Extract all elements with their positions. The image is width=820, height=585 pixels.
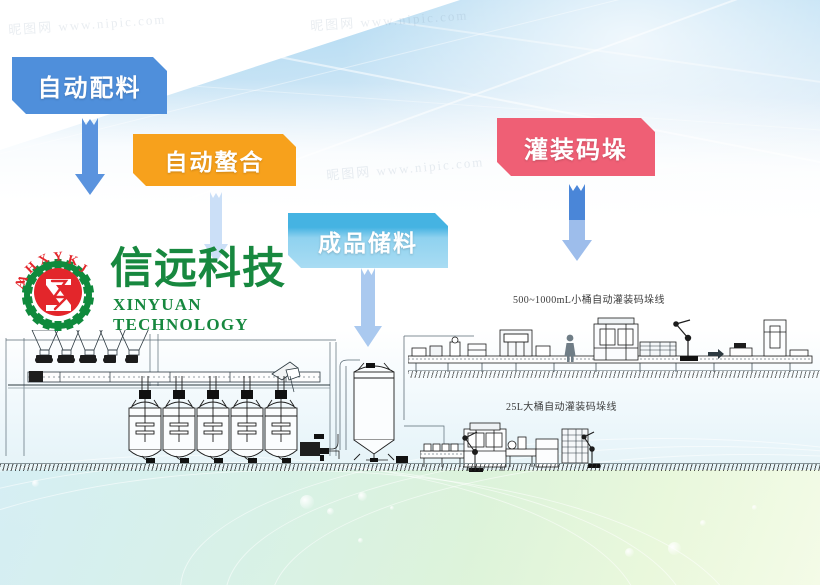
banner-filling-palletizing[interactable]: 灌装码垛 — [497, 118, 655, 176]
background-bokeh — [668, 542, 681, 555]
banner-label: 成品储料 — [318, 224, 418, 258]
caption-large-drum-line: 25L大桶自动灌装码垛线 — [506, 398, 617, 413]
background-bokeh — [32, 480, 39, 487]
arrow-filling-palletizing — [560, 184, 594, 262]
background-bokeh — [752, 505, 757, 510]
ground-hatching-upper — [408, 371, 820, 378]
background-bokeh — [300, 495, 314, 509]
logo-wordmark: 信远科技 XINYUAN TECHNOLOGY — [110, 244, 310, 335]
ground-line-upper — [408, 370, 820, 371]
banner-label: 自动螯合 — [165, 143, 265, 177]
background-bokeh — [625, 548, 634, 557]
background-bokeh — [390, 506, 394, 510]
ground-hatching — [0, 464, 820, 471]
banner-product-storage[interactable]: 成品储料 — [288, 213, 448, 268]
logo-name-en: XINYUAN TECHNOLOGY — [110, 295, 310, 335]
background-bokeh — [358, 492, 367, 501]
flow-diagram-canvas: 昵图网 www.nipic.com 昵图网 www.nipic.com 昵图网 … — [0, 0, 820, 585]
mixing-plant-drawing — [0, 330, 340, 480]
banner-auto-chelation[interactable]: 自动螯合 — [133, 134, 296, 186]
background-bokeh — [327, 508, 334, 515]
logo-name-cn: 信远科技 — [110, 244, 310, 294]
banner-auto-batching[interactable]: 自动配料 — [12, 57, 167, 114]
arrow-auto-batching — [73, 118, 107, 196]
arrow-product-storage — [352, 268, 384, 348]
caption-small-drum-line: 500~1000mL小桶自动灌装码垛线 — [513, 291, 665, 306]
company-logo[interactable]: A A H X Y K J 信远科技 XINYUAN TECHNOLOGY — [10, 246, 310, 332]
background-bokeh — [700, 520, 706, 526]
background-bokeh — [358, 538, 363, 543]
banner-label: 自动配料 — [38, 68, 142, 103]
banner-label: 灌装码垛 — [524, 130, 628, 165]
ground-line — [0, 463, 820, 464]
gear-emblem-icon: A A H X Y K J — [10, 246, 106, 332]
